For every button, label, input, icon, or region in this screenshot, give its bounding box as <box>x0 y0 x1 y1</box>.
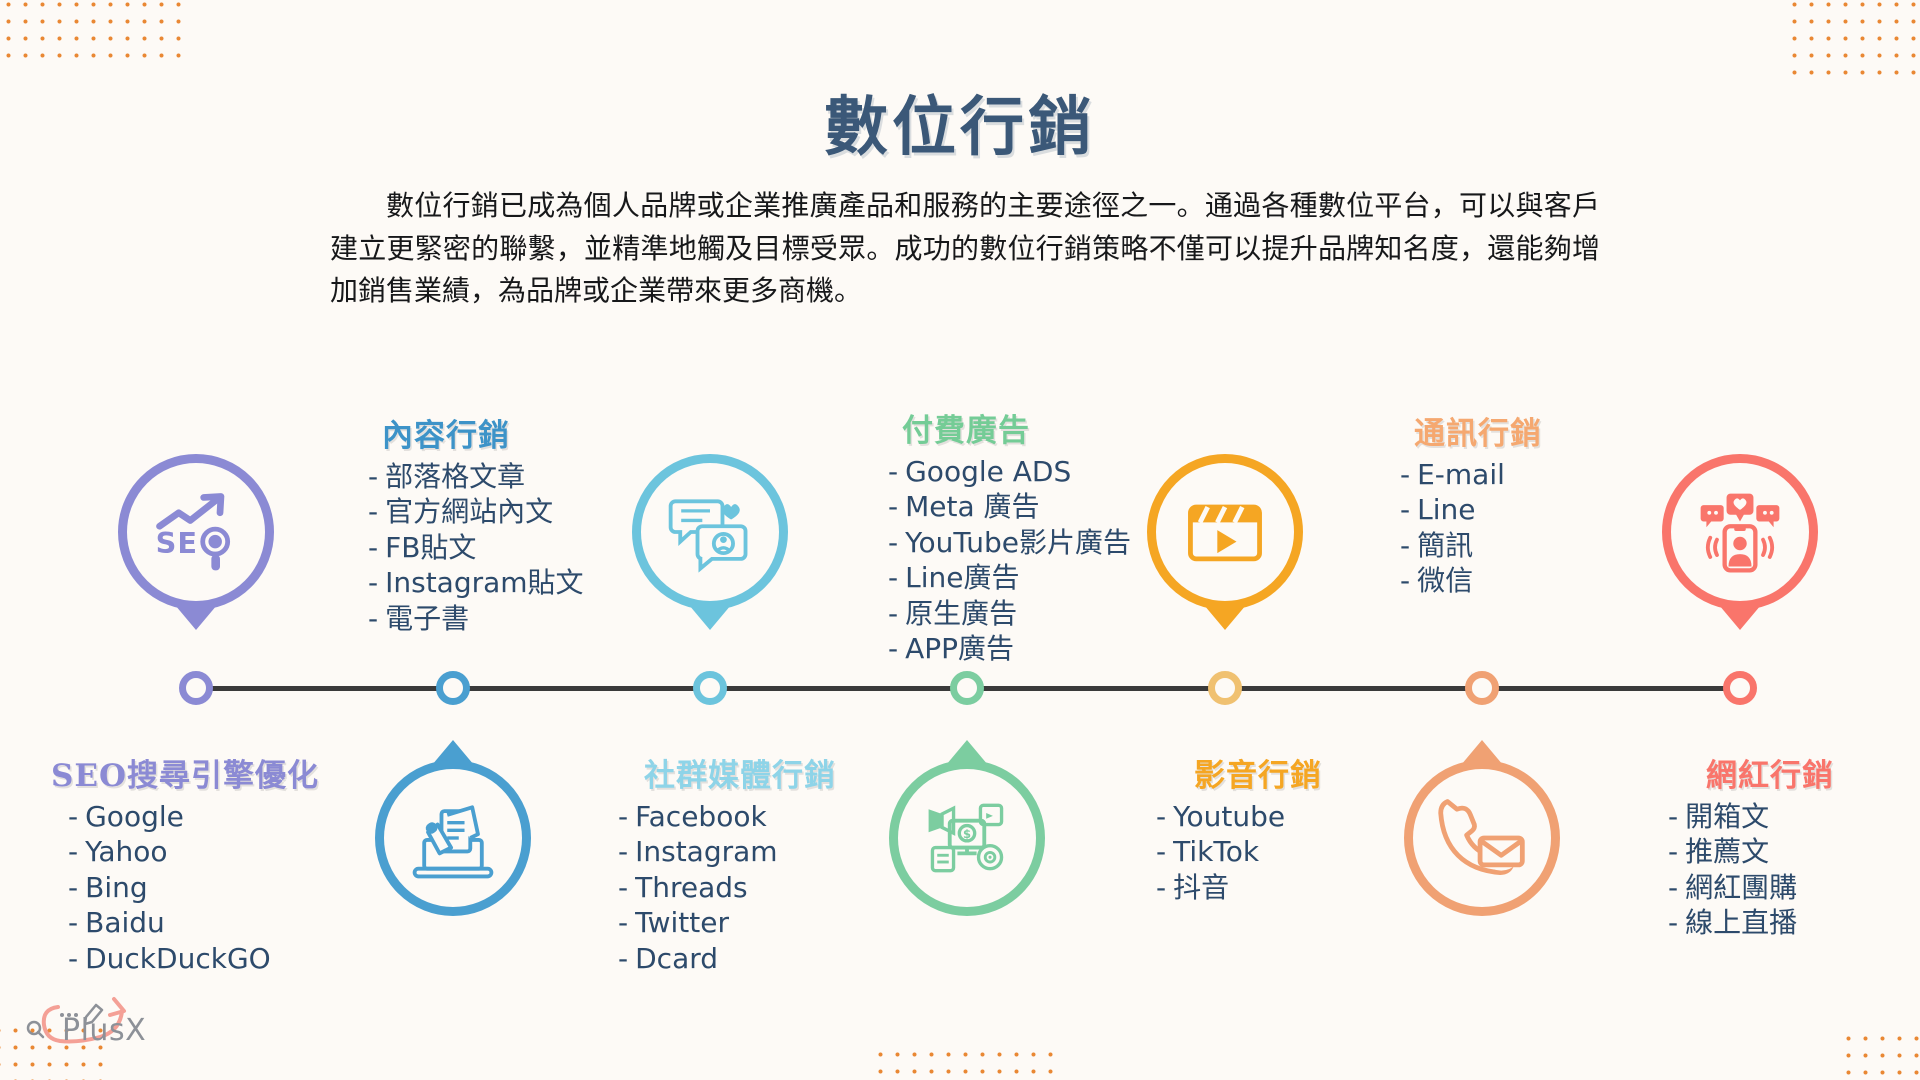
bullet-dash: - <box>368 602 378 635</box>
bullet-dash: - <box>1668 835 1678 868</box>
list-item-label: Threads <box>635 871 748 904</box>
bullet-dash: - <box>1156 871 1166 904</box>
bullet-dash: - <box>68 871 78 904</box>
list-item: -網紅團購 <box>1640 870 1900 905</box>
list-item-label: Yahoo <box>85 835 167 868</box>
list-item-label: 簡訊 <box>1417 529 1473 562</box>
phone-email-icon <box>1434 790 1530 886</box>
list-item: -Threads <box>590 870 890 905</box>
section-heading: 內容行銷 <box>368 410 668 455</box>
section-content: 內容行銷 -部落格文章 -官方網站內文 -FB貼文 -Instagram貼文 -… <box>368 410 668 636</box>
list-item-label: Dcard <box>635 942 718 975</box>
section-list: -開箱文 -推薦文 -網紅團購 -線上直播 <box>1640 799 1900 941</box>
section-list: -部落格文章 -官方網站內文 -FB貼文 -Instagram貼文 -電子書 <box>368 459 668 636</box>
laptop-document-icon <box>405 790 501 886</box>
timeline-node-video[interactable] <box>1208 671 1242 705</box>
bullet-dash: - <box>888 632 898 665</box>
list-item-label: 電子書 <box>385 602 469 635</box>
list-item: -電子書 <box>368 601 668 636</box>
list-item: -DuckDuckGO <box>40 941 330 976</box>
dot-pattern-bottom-right <box>1840 1030 1920 1080</box>
pin-messaging[interactable] <box>1404 760 1560 916</box>
pin-influencer[interactable] <box>1662 454 1818 610</box>
bullet-dash: - <box>1400 458 1410 491</box>
list-item: -Instagram貼文 <box>368 565 668 600</box>
bullet-dash: - <box>368 566 378 599</box>
list-item-label: 微信 <box>1417 564 1473 597</box>
list-item: -Youtube <box>1128 799 1388 834</box>
list-item: -推薦文 <box>1640 834 1900 869</box>
infographic-canvas: 數位行銷 數位行銷已成為個人品牌或企業推廣產品和服務的主要途徑之一。通過各種數位… <box>0 0 1920 1080</box>
list-item: -Twitter <box>590 905 890 940</box>
bullet-dash: - <box>68 835 78 868</box>
bullet-dash: - <box>888 561 898 594</box>
bullet-dash: - <box>888 597 898 630</box>
dot-pattern-top-right <box>1786 0 1920 76</box>
pin-bulb <box>1662 454 1818 610</box>
list-item-label: 開箱文 <box>1685 800 1769 833</box>
list-item: -Dcard <box>590 941 890 976</box>
bullet-dash: - <box>1668 800 1678 833</box>
list-item: -Line廣告 <box>888 560 1188 595</box>
list-item: -抖音 <box>1128 870 1388 905</box>
list-item-label: 部落格文章 <box>385 460 525 493</box>
list-item-label: Facebook <box>635 800 767 833</box>
bullet-dash: - <box>618 906 628 939</box>
list-item-label: YouTube影片廣告 <box>905 526 1131 559</box>
bullet-dash: - <box>1400 564 1410 597</box>
list-item-label: Youtube <box>1173 800 1285 833</box>
dot-pattern-top-left <box>0 0 186 68</box>
logo-text: PlusX <box>62 1013 146 1048</box>
bullet-dash: - <box>618 835 628 868</box>
phone-heart-icon <box>1692 484 1788 580</box>
bullet-dash: - <box>618 800 628 833</box>
list-item-label: 原生廣告 <box>905 597 1017 630</box>
list-item-label: Instagram <box>635 835 777 868</box>
bullet-dash: - <box>618 871 628 904</box>
pin-content[interactable] <box>375 760 531 916</box>
section-video: 影音行銷 -Youtube -TikTok -抖音 <box>1128 750 1388 905</box>
section-heading: 社群媒體行銷 <box>590 750 890 795</box>
list-item: -Meta 廣告 <box>888 489 1188 524</box>
svg-text:SE: SE <box>156 526 198 560</box>
pin-paid[interactable]: $ <box>889 760 1045 916</box>
list-item: -簡訊 <box>1400 528 1670 563</box>
video-player-icon <box>1177 484 1273 580</box>
list-item: -YouTube影片廣告 <box>888 525 1188 560</box>
list-item: -Google ADS <box>888 454 1188 489</box>
section-paid: 付費廣告 -Google ADS -Meta 廣告 -YouTube影片廣告 -… <box>888 405 1188 666</box>
section-list: -E-mail -Line -簡訊 -微信 <box>1400 457 1670 599</box>
list-item: -Google <box>40 799 330 834</box>
timeline-node-paid[interactable] <box>950 671 984 705</box>
list-item-label: Meta 廣告 <box>905 490 1039 523</box>
page-title: 數位行銷 <box>0 76 1920 168</box>
bullet-dash: - <box>1156 800 1166 833</box>
section-influencer: 網紅行銷 -開箱文 -推薦文 -網紅團購 -線上直播 <box>1640 750 1900 941</box>
timeline-node-social[interactable] <box>693 671 727 705</box>
section-list: -Youtube -TikTok -抖音 <box>1128 799 1388 905</box>
list-item: -Line <box>1400 492 1670 527</box>
list-item-label: Instagram貼文 <box>385 566 583 599</box>
list-item: -Facebook <box>590 799 890 834</box>
list-item-label: Google <box>85 800 184 833</box>
dot-pattern-bottom-center <box>872 1046 1062 1080</box>
list-item-label: DuckDuckGO <box>85 942 271 975</box>
chat-bubbles-icon <box>662 484 758 580</box>
seo-chart-icon: SE <box>148 484 244 580</box>
list-item-label: Bing <box>85 871 148 904</box>
list-item: -E-mail <box>1400 457 1670 492</box>
bullet-dash: - <box>888 526 898 559</box>
section-heading: 通訊行銷 <box>1400 408 1670 453</box>
section-heading: 影音行銷 <box>1128 750 1388 795</box>
bullet-dash: - <box>888 455 898 488</box>
bullet-dash: - <box>1668 906 1678 939</box>
section-social: 社群媒體行銷 -Facebook -Instagram -Threads -Tw… <box>590 750 890 976</box>
section-seo: SEO搜尋引擎優化 -Google -Yahoo -Bing -Baidu -D… <box>40 750 330 976</box>
list-item: -微信 <box>1400 563 1670 598</box>
list-item-label: E-mail <box>1417 458 1505 491</box>
list-item-label: Baidu <box>85 906 165 939</box>
list-item-label: Twitter <box>635 906 729 939</box>
list-item-label: TikTok <box>1173 835 1259 868</box>
bullet-dash: - <box>368 531 378 564</box>
pin-seo[interactable]: SE <box>118 454 274 610</box>
list-item-label: Line <box>1417 493 1475 526</box>
pin-bulb <box>1404 760 1560 916</box>
list-item: -開箱文 <box>1640 799 1900 834</box>
list-item-label: Line廣告 <box>905 561 1019 594</box>
section-heading: SEO搜尋引擎優化 <box>40 750 330 795</box>
list-item-label: 網紅團購 <box>1685 871 1797 904</box>
list-item-label: 官方網站內文 <box>385 495 553 528</box>
list-item-label: Google ADS <box>905 455 1071 488</box>
list-item: -FB貼文 <box>368 530 668 565</box>
bullet-dash: - <box>68 906 78 939</box>
list-item: -官方網站內文 <box>368 494 668 529</box>
list-item: -Baidu <box>40 905 330 940</box>
svg-text:$: $ <box>963 827 971 841</box>
list-item-label: APP廣告 <box>905 632 1014 665</box>
pin-bulb <box>375 760 531 916</box>
bullet-dash: - <box>1400 529 1410 562</box>
bullet-dash: - <box>618 942 628 975</box>
bullet-dash: - <box>1400 493 1410 526</box>
bullet-dash: - <box>68 800 78 833</box>
section-messaging: 通訊行銷 -E-mail -Line -簡訊 -微信 <box>1400 408 1670 599</box>
timeline-node-messaging[interactable] <box>1465 671 1499 705</box>
bullet-dash: - <box>1156 835 1166 868</box>
list-item: -TikTok <box>1128 834 1388 869</box>
pin-bulb: $ <box>889 760 1045 916</box>
timeline-node-seo[interactable] <box>179 671 213 705</box>
intro-paragraph: 數位行銷已成為個人品牌或企業推廣產品和服務的主要途徑之一。通過各種數位平台，可以… <box>330 185 1600 313</box>
list-item: -原生廣告 <box>888 596 1188 631</box>
section-list: -Google -Yahoo -Bing -Baidu -DuckDuckGO <box>40 799 330 976</box>
megaphone-screen-icon: $ <box>919 790 1015 886</box>
list-item-label: FB貼文 <box>385 531 476 564</box>
list-item: -部落格文章 <box>368 459 668 494</box>
list-item: -Yahoo <box>40 834 330 869</box>
bullet-dash: - <box>68 942 78 975</box>
bullet-dash: - <box>888 490 898 523</box>
list-item-label: 線上直播 <box>1685 906 1797 939</box>
list-item-label: 抖音 <box>1173 871 1229 904</box>
timeline-node-content[interactable] <box>436 671 470 705</box>
bullet-dash: - <box>368 460 378 493</box>
bullet-dash: - <box>1668 871 1678 904</box>
plusx-logo[interactable]: PlusX <box>18 985 168 1065</box>
list-item: -線上直播 <box>1640 905 1900 940</box>
section-heading: 付費廣告 <box>888 405 1188 450</box>
timeline-node-influencer[interactable] <box>1723 671 1757 705</box>
pin-bulb: SE <box>118 454 274 610</box>
section-list: -Facebook -Instagram -Threads -Twitter -… <box>590 799 890 976</box>
list-item: -Bing <box>40 870 330 905</box>
bullet-dash: - <box>368 495 378 528</box>
section-list: -Google ADS -Meta 廣告 -YouTube影片廣告 -Line廣… <box>888 454 1188 666</box>
list-item-label: 推薦文 <box>1685 835 1769 868</box>
list-item: -APP廣告 <box>888 631 1188 666</box>
section-heading: 網紅行銷 <box>1640 750 1900 795</box>
list-item: -Instagram <box>590 834 890 869</box>
